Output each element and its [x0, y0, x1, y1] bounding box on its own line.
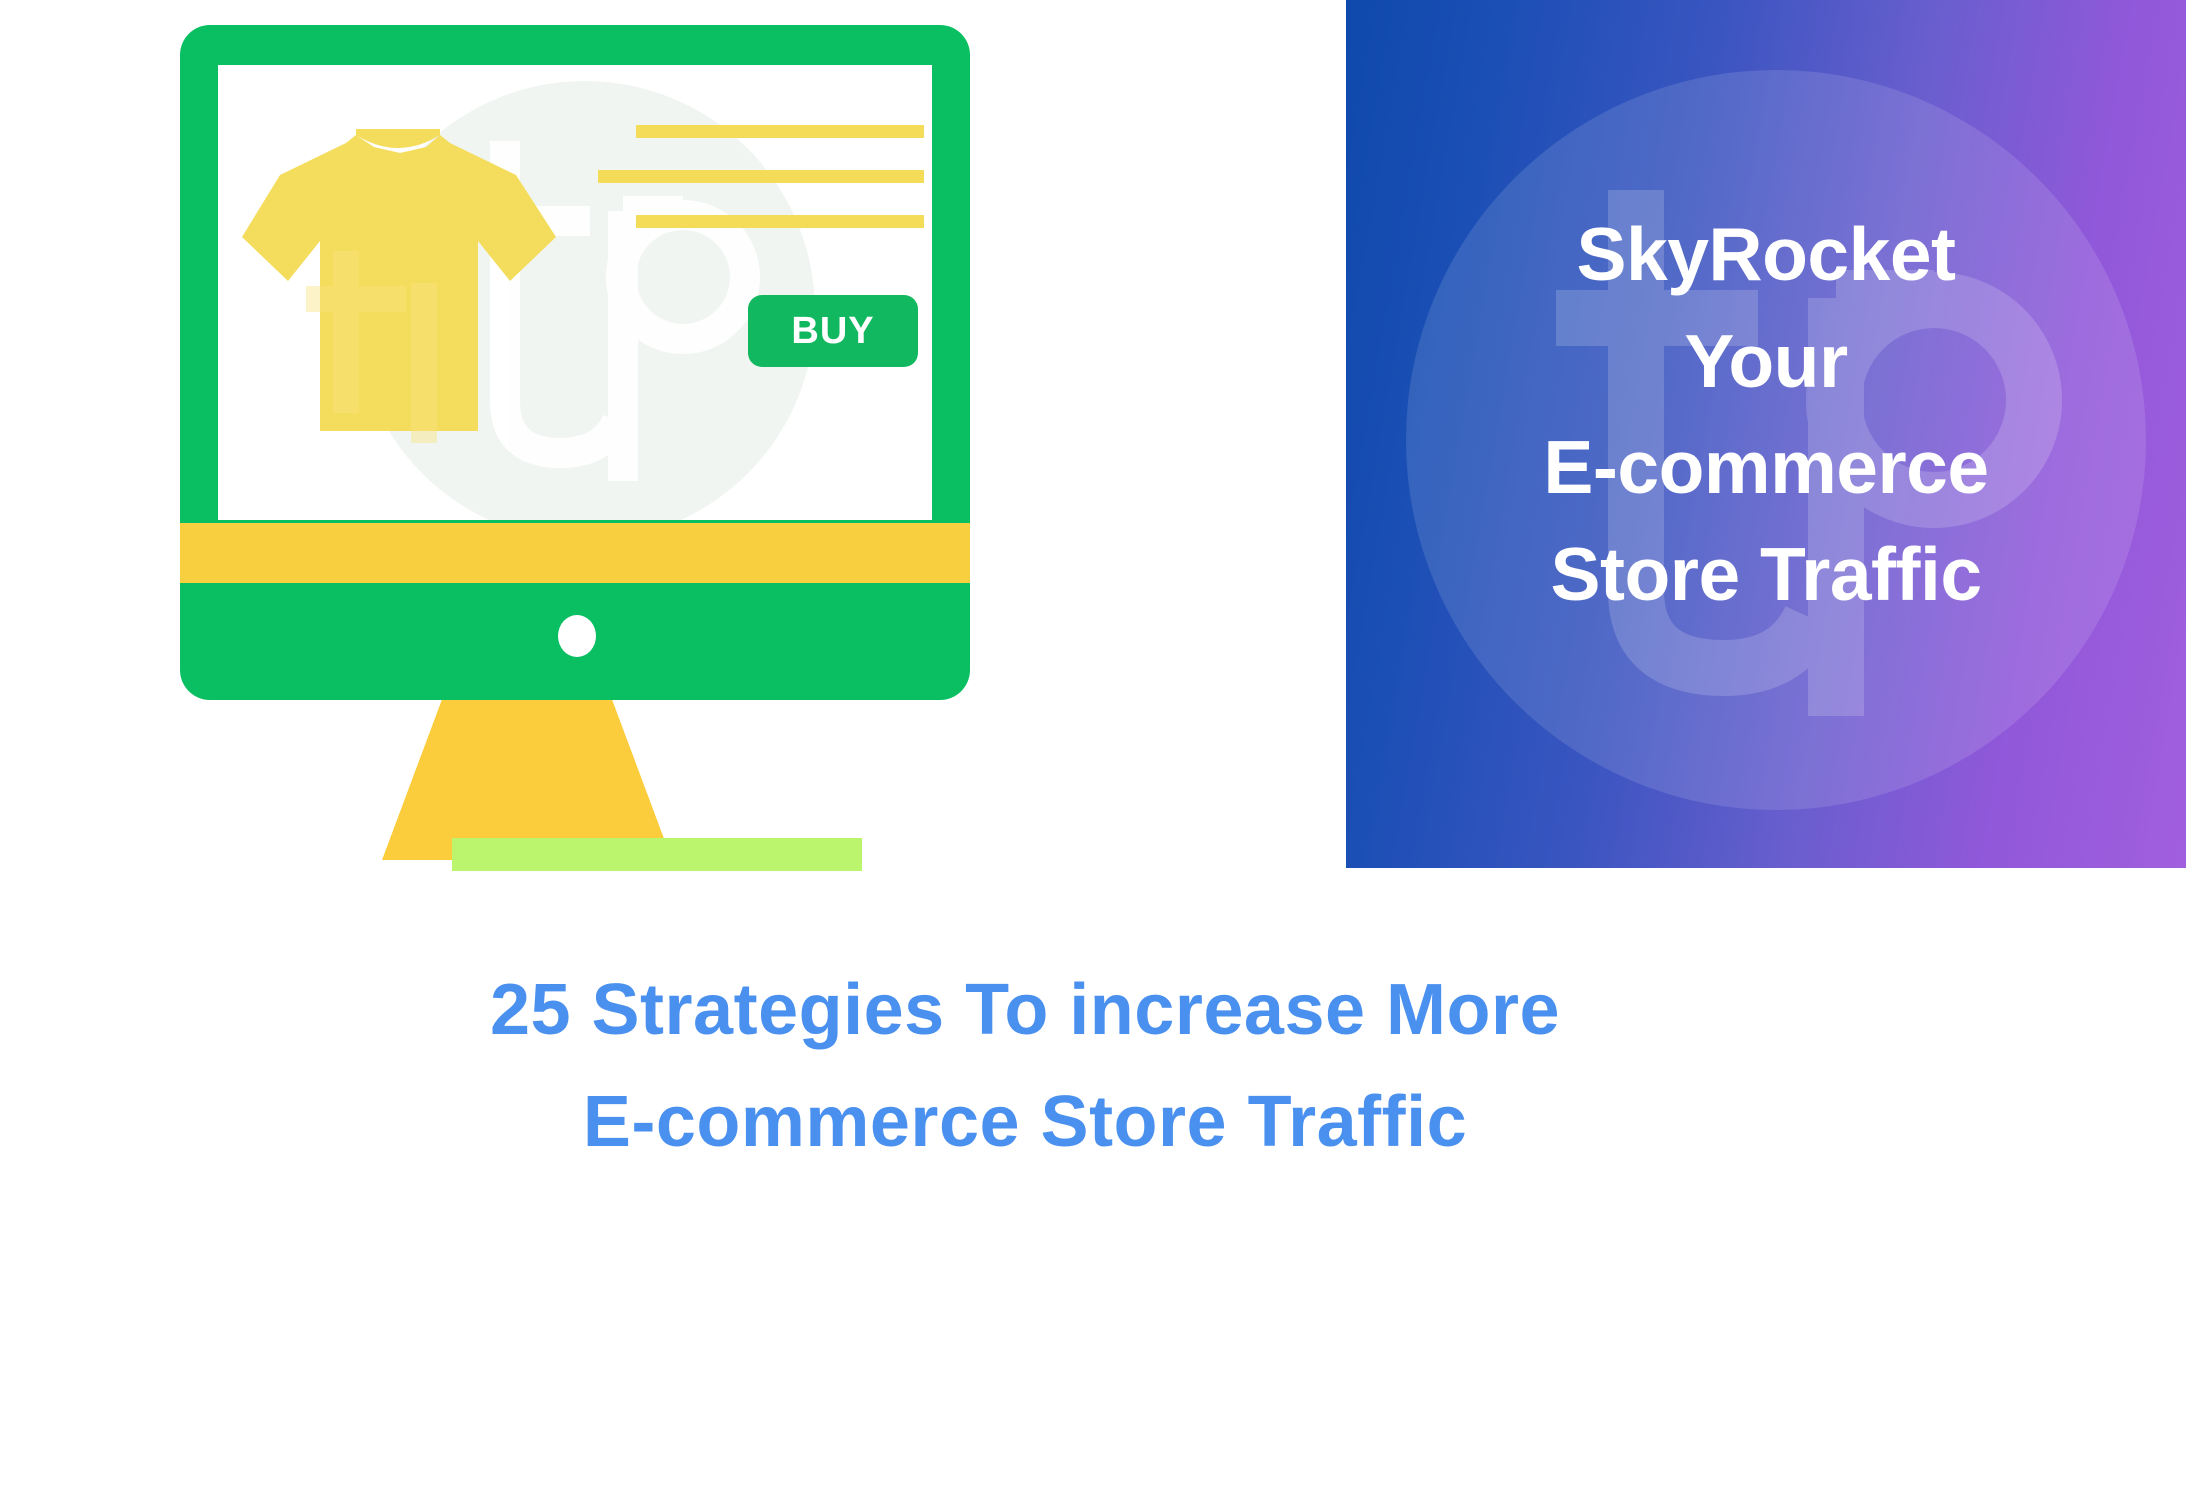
- monitor-stand-base: [452, 838, 862, 871]
- headline-line-2: E-commerce Store Traffic: [0, 1067, 2050, 1179]
- monitor-yellow-band: [180, 523, 970, 583]
- monitor-screen: BUY: [218, 65, 932, 520]
- monitor-indicator-dot: [558, 615, 596, 657]
- screen-text-line-1: [636, 125, 924, 138]
- poster-canvas: BUY SkyRocket Your E-commerce Store Tr: [0, 0, 2186, 1500]
- ecommerce-monitor-illustration: BUY: [180, 25, 1140, 905]
- hero-title-line-3: E-commerce: [1543, 414, 1988, 521]
- screen-text-line-2: [598, 170, 924, 183]
- screen-text-line-3: [636, 215, 924, 228]
- buy-button[interactable]: BUY: [748, 295, 918, 367]
- page-headline: 25 Strategies To increase More E-commerc…: [0, 955, 2050, 1178]
- monitor-stand-neck: [382, 697, 672, 860]
- hero-title-line-1: SkyRocket: [1576, 201, 1955, 308]
- headline-line-1: 25 Strategies To increase More: [0, 955, 2050, 1067]
- shirt-watermark-glyph: [228, 113, 568, 463]
- hero-title-block: SkyRocket Your E-commerce Store Traffic: [1346, 0, 2186, 868]
- hero-gradient-panel: SkyRocket Your E-commerce Store Traffic: [1346, 0, 2186, 868]
- hero-title-line-4: Store Traffic: [1550, 521, 1981, 628]
- buy-button-label: BUY: [791, 310, 874, 353]
- hero-title-line-2: Your: [1684, 308, 1847, 415]
